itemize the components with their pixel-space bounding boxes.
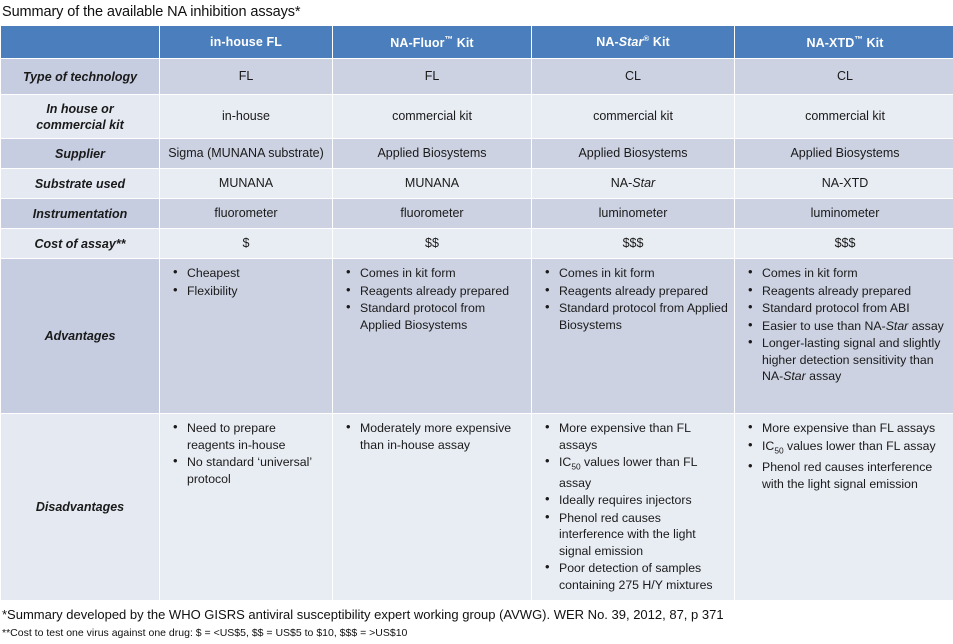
table-body: Type of technology FL FL CL CL In house … — [1, 59, 953, 601]
list-item: Ideally requires injectors — [558, 492, 728, 509]
cell-disadvantages-inhouse-fl: Need to prepare reagents in-house No sta… — [160, 414, 333, 601]
bullet-list: Need to prepare reagents in-house No sta… — [160, 414, 332, 494]
cell-supplier-na-xtd: Applied Biosystems — [735, 139, 953, 169]
table-row: Substrate used MUNANA MUNANA NA-Star NA-… — [1, 169, 953, 199]
list-item: No standard ‘universal’ protocol — [186, 454, 326, 487]
cell-cost-of-assay-inhouse-fl: $ — [160, 229, 333, 259]
table-row: Cost of assay** $ $$ $$$ $$$ — [1, 229, 953, 259]
cell-cost-of-assay-na-xtd: $$$ — [735, 229, 953, 259]
list-item: Reagents already prepared — [359, 283, 525, 300]
cell-cost-of-assay-na-star: $$$ — [532, 229, 735, 259]
header-cell-na-xtd: NA-XTD™ Kit — [735, 26, 953, 59]
cell-disadvantages-na-xtd: More expensive than FL assays IC50 value… — [735, 414, 953, 601]
header-cell-inhouse-fl: in-house FL — [160, 26, 333, 59]
list-item: Longer-lasting signal and slightly highe… — [761, 335, 949, 385]
header-cell-corner — [1, 26, 160, 59]
list-item: Standard protocol from Applied Biosystem… — [359, 300, 525, 333]
cell-substrate-used-na-fluor: MUNANA — [333, 169, 532, 199]
list-item: Reagents already prepared — [558, 283, 728, 300]
list-item: Comes in kit form — [558, 265, 728, 282]
cell-supplier-na-fluor: Applied Biosystems — [333, 139, 532, 169]
cell-substrate-used-na-star: NA-Star — [532, 169, 735, 199]
cell-cost-of-assay-na-fluor: $$ — [333, 229, 532, 259]
cell-supplier-na-star: Applied Biosystems — [532, 139, 735, 169]
list-item: Phenol red causes interference with the … — [761, 459, 949, 492]
list-item: Easier to use than NA-Star assay — [761, 318, 949, 335]
cell-in-house-or-commercial-kit-na-xtd: commercial kit — [735, 95, 953, 139]
list-item: Standard protocol from Applied Biosystem… — [558, 300, 728, 333]
row-label-cost-of-assay: Cost of assay** — [1, 229, 160, 259]
cell-advantages-na-xtd: Comes in kit form Reagents already prepa… — [735, 259, 953, 414]
table-row: Instrumentation fluorometer fluorometer … — [1, 199, 953, 229]
list-item: Poor detection of samples containing 275… — [558, 560, 728, 593]
table-row: Supplier Sigma (MUNANA substrate) Applie… — [1, 139, 953, 169]
table-row: Disadvantages Need to prepare reagents i… — [1, 414, 953, 601]
row-label-type-of-technology: Type of technology — [1, 59, 160, 95]
list-item: IC50 values lower than FL assay — [558, 454, 728, 491]
cell-instrumentation-na-star: luminometer — [532, 199, 735, 229]
cell-type-of-technology-na-fluor: FL — [333, 59, 532, 95]
list-item: Phenol red causes interference with the … — [558, 510, 728, 560]
cell-substrate-used-inhouse-fl: MUNANA — [160, 169, 333, 199]
cell-type-of-technology-na-xtd: CL — [735, 59, 953, 95]
bullet-list: More expensive than FL assays IC50 value… — [532, 414, 734, 600]
header-cell-na-fluor: NA-Fluor™ Kit — [333, 26, 532, 59]
row-label-line-1: In house or — [46, 102, 113, 116]
list-item: Moderately more expensive than in-house … — [359, 420, 525, 453]
table-row: Advantages Cheapest Flexibility Comes in… — [1, 259, 953, 414]
footnotes: *Summary developed by the WHO GISRS anti… — [0, 603, 953, 644]
list-item: More expensive than FL assays — [558, 420, 728, 453]
bullet-list: Moderately more expensive than in-house … — [333, 414, 531, 460]
list-item: Flexibility — [186, 283, 326, 300]
cell-advantages-inhouse-fl: Cheapest Flexibility — [160, 259, 333, 414]
cell-instrumentation-na-fluor: fluorometer — [333, 199, 532, 229]
list-item: More expensive than FL assays — [761, 420, 949, 437]
assay-comparison-table: in-house FL NA-Fluor™ Kit NA-Star® Kit N… — [0, 25, 953, 601]
bullet-list: Comes in kit form Reagents already prepa… — [333, 259, 531, 340]
list-item: Comes in kit form — [359, 265, 525, 282]
table-row: Type of technology FL FL CL CL — [1, 59, 953, 95]
cell-type-of-technology-na-star: CL — [532, 59, 735, 95]
footnote-cost-legend: **Cost to test one virus against one dru… — [0, 624, 953, 644]
cell-type-of-technology-inhouse-fl: FL — [160, 59, 333, 95]
list-item: Comes in kit form — [761, 265, 949, 282]
list-item: Need to prepare reagents in-house — [186, 420, 326, 453]
header-cell-na-star: NA-Star® Kit — [532, 26, 735, 59]
cell-disadvantages-na-star: More expensive than FL assays IC50 value… — [532, 414, 735, 601]
row-label-advantages: Advantages — [1, 259, 160, 414]
bullet-list: More expensive than FL assays IC50 value… — [735, 414, 953, 499]
list-item: Reagents already prepared — [761, 283, 949, 300]
list-item: IC50 values lower than FL assay — [761, 438, 949, 459]
cell-advantages-na-fluor: Comes in kit form Reagents already prepa… — [333, 259, 532, 414]
bullet-list: Comes in kit form Reagents already prepa… — [532, 259, 734, 340]
footnote-source: *Summary developed by the WHO GISRS anti… — [0, 603, 953, 624]
row-label-substrate-used: Substrate used — [1, 169, 160, 199]
page-title: Summary of the available NA inhibition a… — [0, 0, 953, 25]
header-row: in-house FL NA-Fluor™ Kit NA-Star® Kit N… — [1, 26, 953, 59]
row-label-line-2: commercial kit — [36, 118, 124, 132]
cell-supplier-inhouse-fl: Sigma (MUNANA substrate) — [160, 139, 333, 169]
list-item: Cheapest — [186, 265, 326, 282]
slide-page: Summary of the available NA inhibition a… — [0, 0, 953, 644]
cell-disadvantages-na-fluor: Moderately more expensive than in-house … — [333, 414, 532, 601]
row-label-supplier: Supplier — [1, 139, 160, 169]
cell-in-house-or-commercial-kit-na-fluor: commercial kit — [333, 95, 532, 139]
cell-in-house-or-commercial-kit-inhouse-fl: in-house — [160, 95, 333, 139]
cell-in-house-or-commercial-kit-na-star: commercial kit — [532, 95, 735, 139]
list-item: Standard protocol from ABI — [761, 300, 949, 317]
cell-advantages-na-star: Comes in kit form Reagents already prepa… — [532, 259, 735, 414]
row-label-instrumentation: Instrumentation — [1, 199, 160, 229]
bullet-list: Cheapest Flexibility — [160, 259, 332, 306]
table-row: In house or commercial kit in-house comm… — [1, 95, 953, 139]
row-label-disadvantages: Disadvantages — [1, 414, 160, 601]
cell-instrumentation-na-xtd: luminometer — [735, 199, 953, 229]
cell-substrate-used-na-xtd: NA-XTD — [735, 169, 953, 199]
cell-instrumentation-inhouse-fl: fluorometer — [160, 199, 333, 229]
table-header: in-house FL NA-Fluor™ Kit NA-Star® Kit N… — [1, 26, 953, 59]
bullet-list: Comes in kit form Reagents already prepa… — [735, 259, 953, 392]
row-label-in-house-or-commercial-kit: In house or commercial kit — [1, 95, 160, 139]
